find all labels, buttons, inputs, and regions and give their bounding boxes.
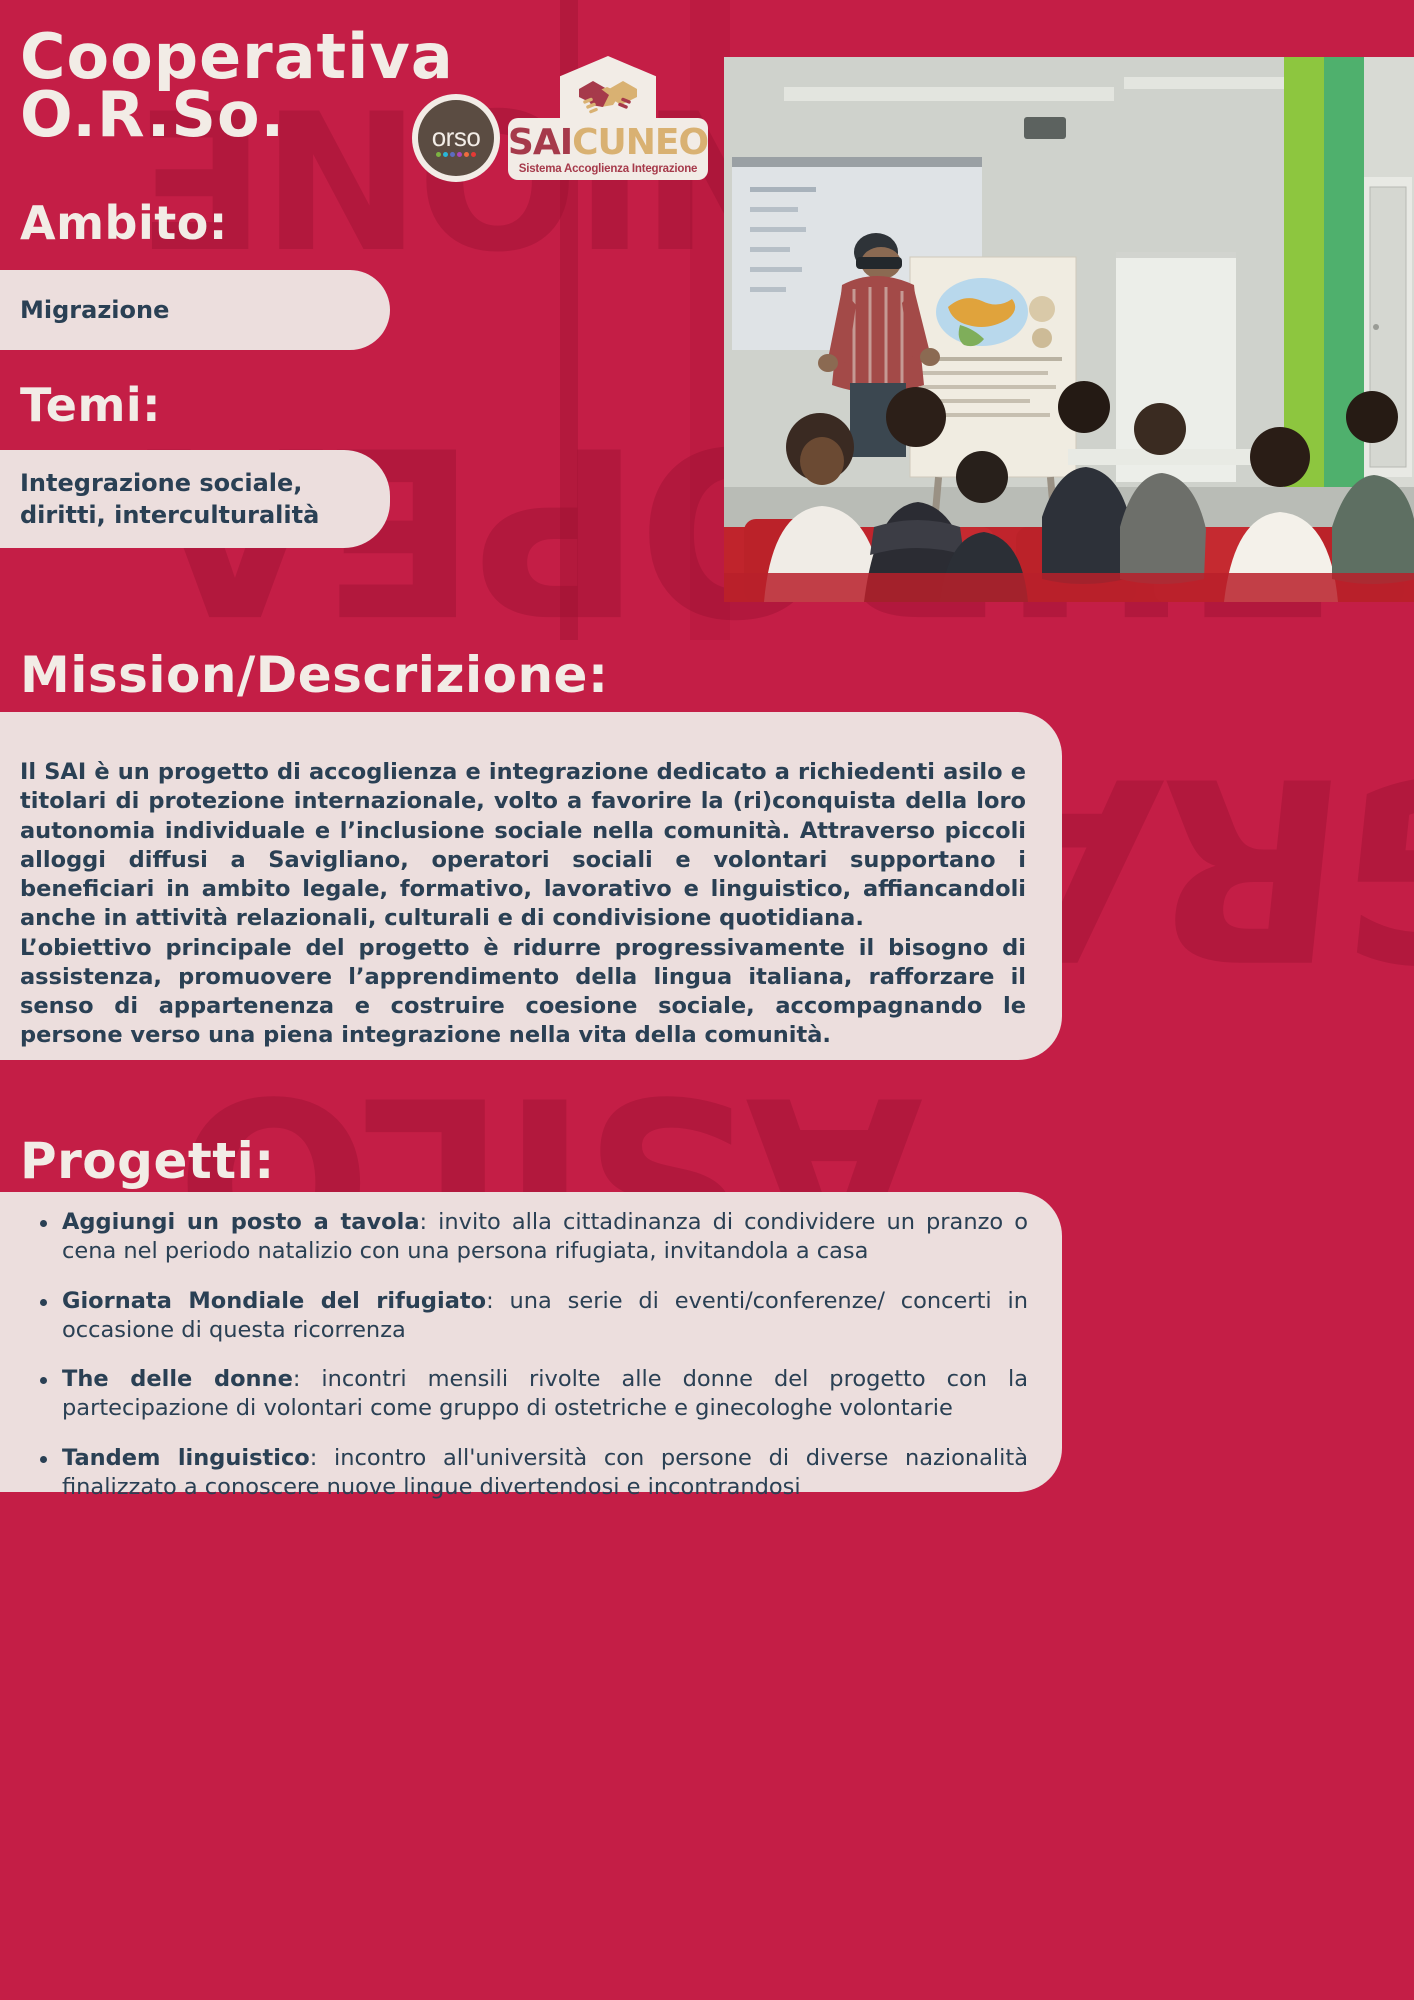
- section-label-temi: Temi:: [20, 378, 161, 432]
- orso-logo-circle: orso: [418, 100, 494, 176]
- list-item: The delle donne: incontri mensili rivolt…: [20, 1365, 1028, 1424]
- progetti-list: Aggiungi un posto a tavola: invito alla …: [20, 1208, 1028, 1502]
- poster-page: UNIONE EUROPEA MIGRAZIONE ASILO Cooperat…: [0, 0, 1414, 2000]
- mission-paragraph-1: Il SAI è un progetto di accoglienza e in…: [20, 758, 1026, 934]
- progetto-title: Tandem linguistico: [62, 1445, 310, 1471]
- orso-logo-dots: [436, 152, 476, 157]
- sai-logo-word-cuneo: CUNEO: [572, 122, 708, 163]
- orso-logo: orso: [412, 94, 500, 182]
- progetto-title: The delle donne: [62, 1366, 293, 1392]
- temi-value: Integrazione sociale, diritti, intercult…: [0, 467, 390, 532]
- mission-paragraph-2: L’obiettivo principale del progetto è ri…: [20, 934, 1026, 1051]
- ambito-panel: Migrazione: [0, 270, 390, 350]
- brand-line-2: O.R.So.: [20, 86, 454, 144]
- progetto-title: Aggiungi un posto a tavola: [62, 1209, 420, 1235]
- sai-logo-plate: SAICUNEO Sistema Accoglienza Integrazion…: [508, 118, 708, 180]
- sai-logo-word-sai: SAI: [508, 122, 572, 163]
- section-label-mission: Mission/Descrizione:: [20, 646, 608, 704]
- brand-wordmark: Cooperativa O.R.So.: [20, 28, 454, 145]
- section-label-ambito: Ambito:: [20, 196, 228, 250]
- orso-logo-label: orso: [432, 124, 481, 150]
- photo-illustration: [724, 57, 1414, 602]
- list-item: Giornata Mondiale del rifugiato: una ser…: [20, 1287, 1028, 1346]
- temi-panel: Integrazione sociale, diritti, intercult…: [0, 450, 390, 548]
- handshake-icon: [577, 75, 639, 115]
- list-item: Tandem linguistico: incontro all'univers…: [20, 1444, 1028, 1503]
- sai-logo-wordmark: SAICUNEO: [508, 125, 708, 161]
- sai-cuneo-logo: SAICUNEO Sistema Accoglienza Integrazion…: [508, 56, 708, 196]
- progetto-title: Giornata Mondiale del rifugiato: [62, 1288, 486, 1314]
- list-item: Aggiungi un posto a tavola: invito alla …: [20, 1208, 1028, 1267]
- sai-logo-subtitle: Sistema Accoglienza Integrazione: [519, 163, 698, 175]
- progetti-panel: Aggiungi un posto a tavola: invito alla …: [0, 1192, 1062, 1492]
- bottom-strip: [0, 1810, 1414, 2000]
- section-label-progetti: Progetti:: [20, 1132, 275, 1190]
- mission-panel: Il SAI è un progetto di accoglienza e in…: [0, 712, 1062, 1060]
- header-photo: [724, 57, 1414, 602]
- ambito-value: Migrazione: [0, 294, 390, 326]
